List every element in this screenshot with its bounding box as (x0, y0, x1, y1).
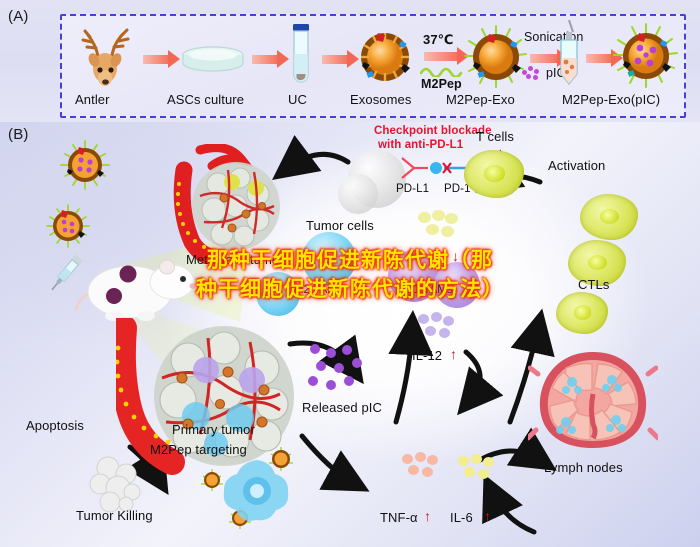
ctl-cell-icon (580, 194, 638, 240)
label-tumor-killing: Tumor Killing (76, 508, 153, 523)
process-arrow-5 (530, 54, 558, 63)
t-cell-icon (464, 150, 524, 198)
panel-a-tag: (A) (8, 8, 29, 25)
process-arrow-1 (143, 55, 169, 64)
label-released-pic: Released pIC (302, 400, 382, 415)
label-activation: Activation (548, 158, 605, 173)
m2-macrophage-icon (302, 232, 356, 286)
il6-trend-arrow: ↑ (484, 508, 491, 524)
figure-canvas: (A) Antler (0, 0, 700, 547)
targeted-macrophage-icon (222, 458, 292, 524)
tnfa-cytokine-dots (402, 452, 442, 480)
step-label-m2pep-exo: M2Pep-Exo (446, 92, 515, 107)
il10-cytokine-dots (418, 210, 460, 240)
label-primary-tumor: Primary tumor (172, 422, 255, 437)
exosome-icon (356, 28, 414, 86)
process-arrow-3 (322, 55, 348, 64)
label-m2pep-targeting: M2Pep targeting (150, 442, 247, 457)
tumor-cell-icon (338, 174, 378, 214)
label-m1-tams: M1 TAMs (404, 284, 453, 296)
temperature-label: 37℃ (423, 32, 454, 48)
label-pdl1: PD-L1 (396, 183, 429, 195)
step-label-uc: UC (288, 92, 307, 107)
ctl-cell-icon (556, 292, 608, 334)
pic-loaded-exosome-icon (612, 22, 680, 90)
il6-cytokine-dots (458, 454, 498, 482)
process-arrow-2 (252, 55, 278, 64)
panel-b: (B) (0, 122, 700, 547)
apoptotic-cell-icon (84, 452, 148, 514)
step-label-antler: Antler (75, 92, 110, 107)
step-label-ascs: ASCs culture (167, 92, 244, 107)
label-metastatic-tumor: Metastatic tumor (186, 252, 284, 267)
label-tnfa: TNF-α (380, 510, 418, 525)
pic-dots-icon (522, 66, 544, 80)
m2pep-label: M2Pep (421, 77, 462, 91)
label-apoptosis: Apoptosis (26, 418, 84, 433)
label-t-cells: T cells (476, 129, 514, 144)
petri-dish-icon (180, 45, 246, 77)
centrifuge-tube-icon (288, 24, 314, 88)
il12-trend-arrow: ↑ (450, 346, 457, 362)
label-il12: IL-12 (412, 348, 442, 363)
process-arrow-4 (424, 52, 458, 61)
label-lymph-nodes: Lymph nodes (544, 460, 623, 475)
metastatic-tumor-icon (170, 144, 295, 264)
label-tumor-cells: Tumor cells (306, 218, 374, 233)
panel-a: (A) Antler (0, 0, 700, 122)
exosome-particle (60, 140, 110, 190)
label-checkpoint-line1: Checkpoint blockade (374, 125, 492, 137)
label-ctls: CTLs (578, 277, 609, 292)
label-il6: IL-6 (450, 510, 473, 525)
targeting-exosome-icon (200, 468, 224, 492)
deer-icon (76, 26, 138, 88)
m2pep-squiggle-icon (420, 64, 464, 76)
il12-cytokine-dots (418, 312, 458, 342)
panel-b-tag: (B) (8, 126, 29, 143)
exosome-particle (46, 204, 90, 248)
process-arrow-6 (586, 54, 612, 63)
tnfa-trend-arrow: ↑ (424, 508, 431, 524)
step-label-exosomes: Exosomes (350, 92, 412, 107)
step-label-m2pep-exo-pic: M2Pep-Exo(pIC) (562, 92, 660, 107)
label-checkpoint-line2: with anti-PD-L1 (378, 139, 463, 151)
lymph-node-icon (528, 344, 658, 464)
label-m2-tams: M2 TAMs (294, 284, 343, 296)
sonicator-tube-icon (556, 20, 582, 90)
released-pic-dots (308, 344, 368, 394)
peptide-exosome-icon (463, 24, 529, 90)
